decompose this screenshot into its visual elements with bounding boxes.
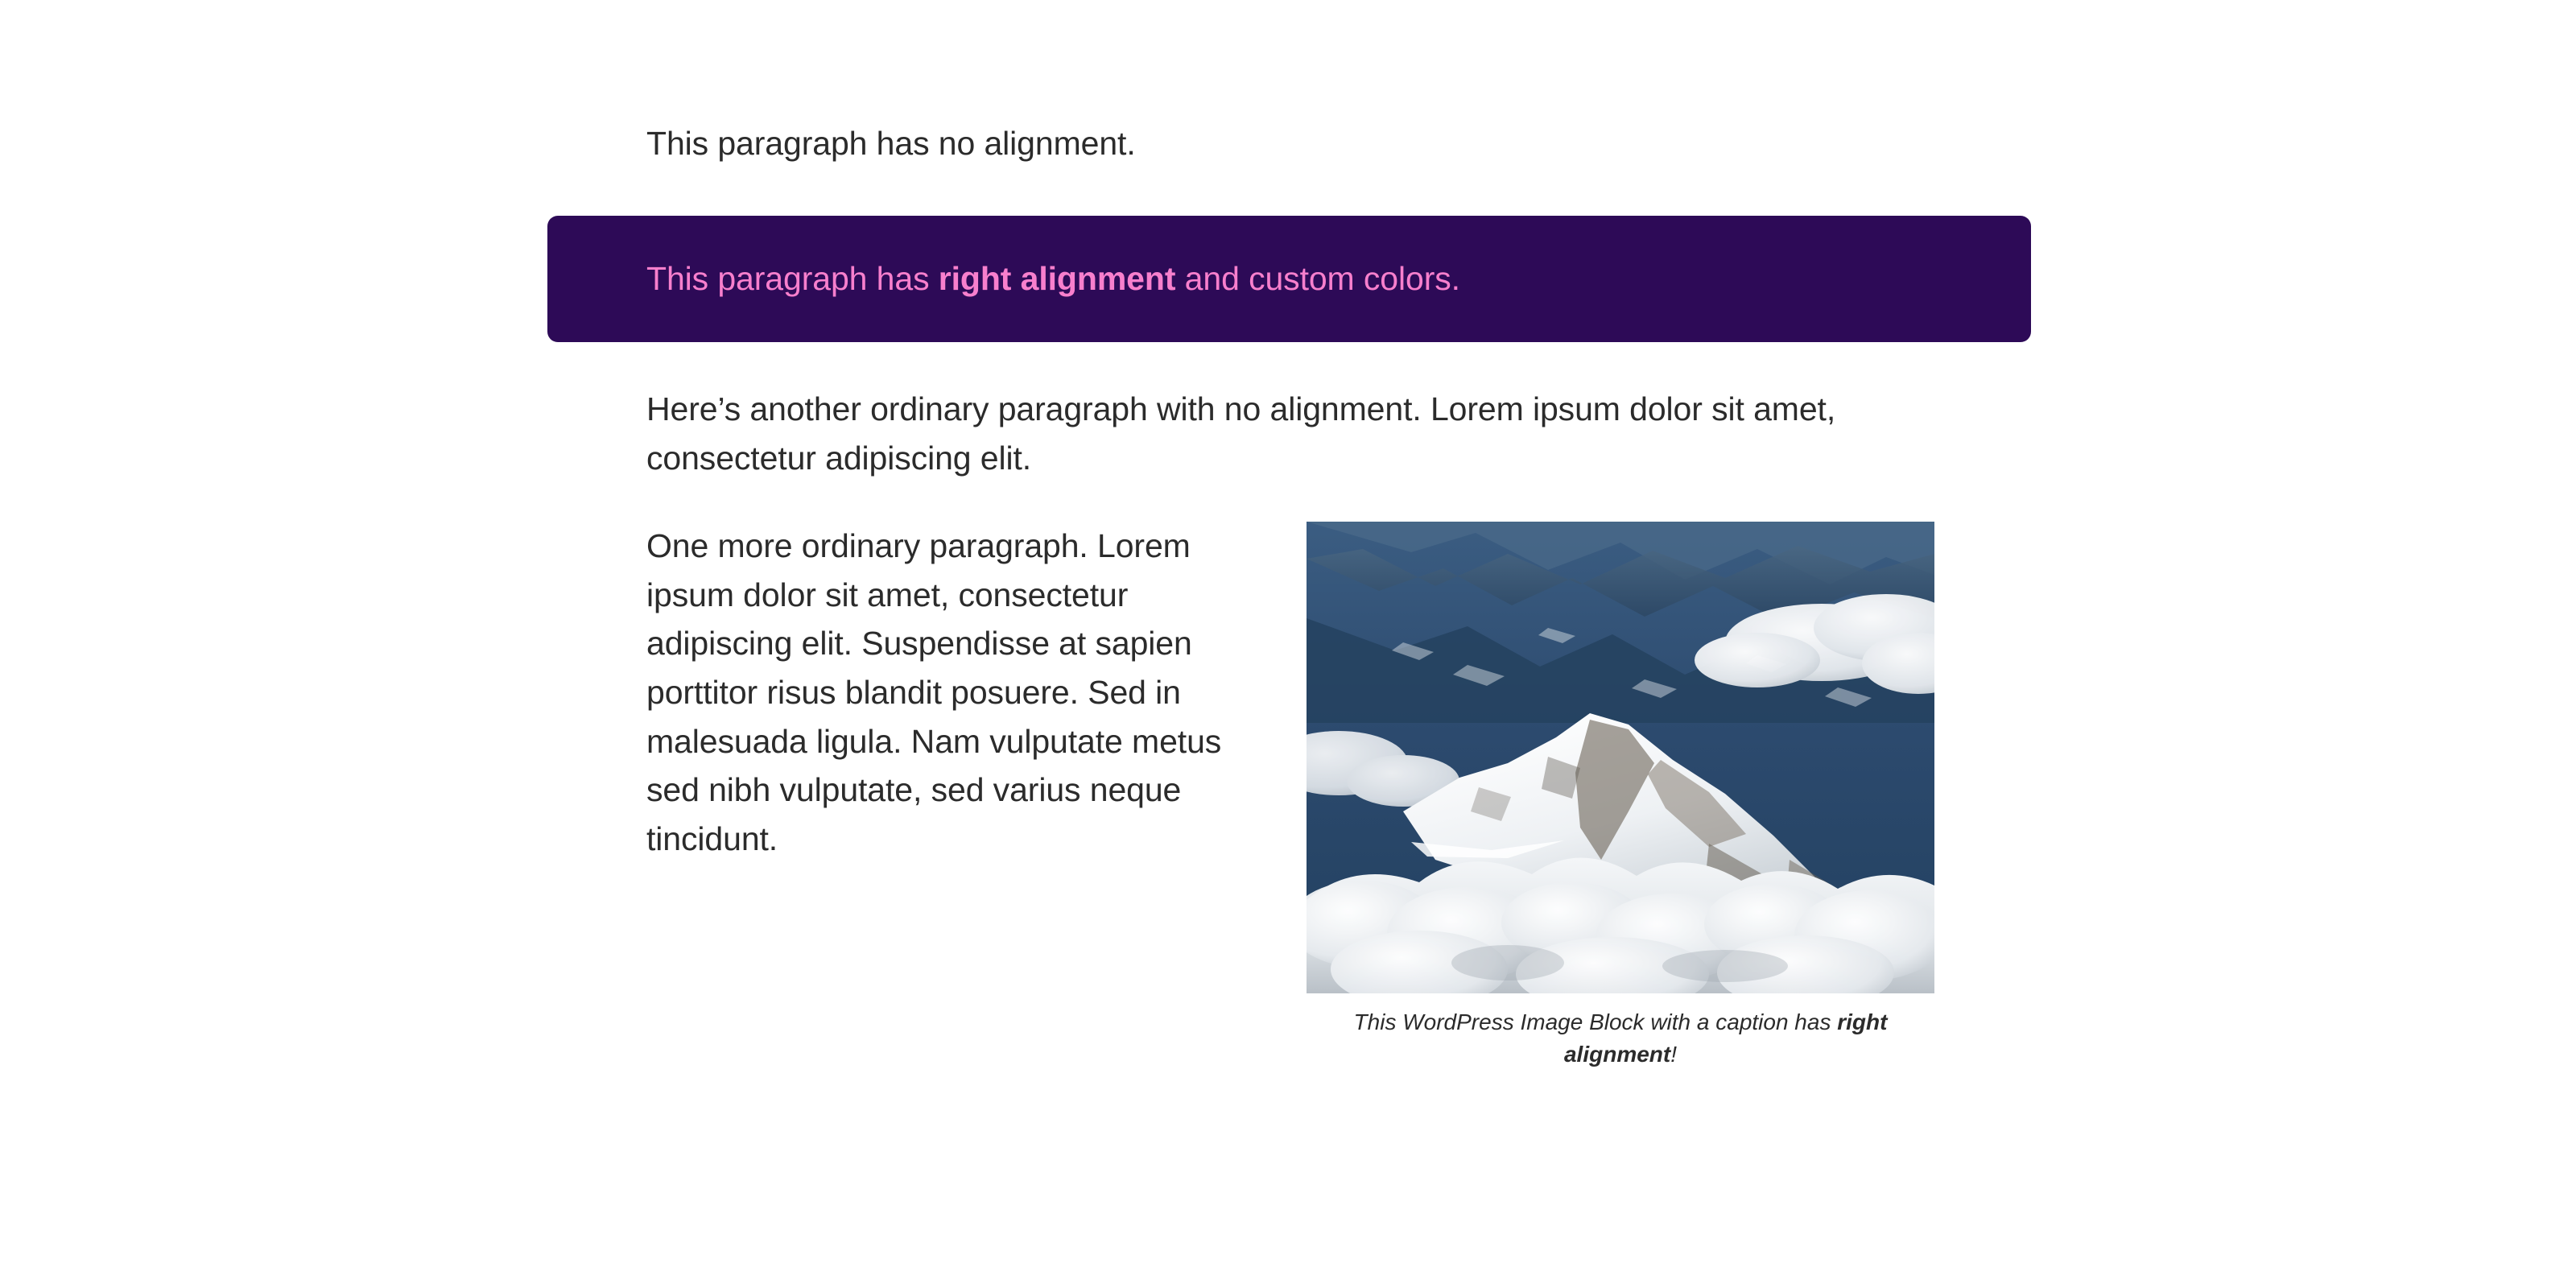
mountain-above-clouds-photo[interactable] bbox=[1307, 522, 1934, 993]
paragraph-right-alignment-text: This paragraph has right alignment and c… bbox=[547, 254, 1559, 303]
paragraph-block-ordinary-second[interactable]: Here’s another ordinary paragraph with n… bbox=[646, 385, 1967, 482]
image-caption: This WordPress Image Block with a captio… bbox=[1307, 1006, 1934, 1071]
image-block-right-aligned[interactable]: This WordPress Image Block with a captio… bbox=[1307, 522, 1934, 1071]
page-canvas: This paragraph has no alignment. This pa… bbox=[0, 0, 2576, 1288]
text-with-right-aligned-image-section: This WordPress Image Block with a captio… bbox=[646, 522, 1934, 1071]
paragraph-ordinary-second-text: Here’s another ordinary paragraph with n… bbox=[646, 385, 1967, 482]
caption-tail: ! bbox=[1670, 1042, 1677, 1067]
purple-text-tail: and custom colors. bbox=[1175, 260, 1460, 297]
purple-text-bold: right alignment bbox=[939, 260, 1176, 297]
paragraph-block-no-alignment[interactable]: This paragraph has no alignment. bbox=[646, 119, 2031, 168]
paragraph-block-right-alignment-custom-colors[interactable]: This paragraph has right alignment and c… bbox=[547, 216, 2031, 342]
paragraph-no-alignment-text: This paragraph has no alignment. bbox=[646, 119, 2031, 168]
caption-lead: This WordPress Image Block with a captio… bbox=[1354, 1009, 1838, 1034]
purple-text-lead: This paragraph has bbox=[646, 260, 939, 297]
